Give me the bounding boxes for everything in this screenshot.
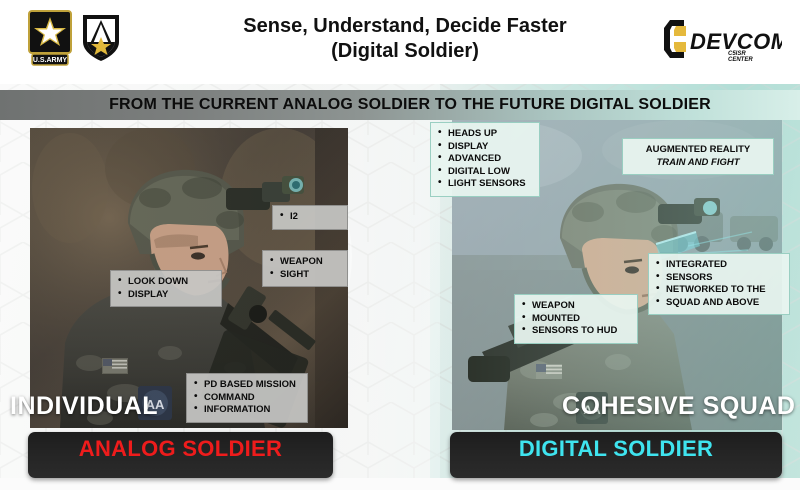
callout-pd-line-1: COMMAND bbox=[193, 392, 299, 405]
callout-i2: I2 bbox=[272, 205, 348, 230]
callout-integrated-line-0: INTEGRATED bbox=[655, 259, 781, 272]
bottom-white-strip bbox=[0, 478, 800, 490]
callout-weaponhud-line-2: SENSORS TO HUD bbox=[521, 325, 629, 338]
callout-pd-line-0: PD BASED MISSION bbox=[193, 379, 299, 392]
page-title-line1: Sense, Understand, Decide Faster bbox=[170, 14, 640, 39]
page-title-line2: (Digital Soldier) bbox=[170, 39, 640, 64]
callout-integrated-sensors: INTEGRATED SENSORS NETWORKED TO THE SQUA… bbox=[648, 253, 790, 315]
callout-weapon-sight: WEAPON SIGHT bbox=[262, 250, 348, 287]
banner-bar: FROM THE CURRENT ANALOG SOLDIER TO THE F… bbox=[0, 90, 800, 120]
callout-weapon-mounted-sensors: WEAPON MOUNTED SENSORS TO HUD bbox=[514, 294, 638, 344]
analog-soldier-bar: ANALOG SOLDIER bbox=[28, 432, 333, 478]
callout-integrated-line-3: SQUAD AND ABOVE bbox=[655, 297, 781, 310]
slide-root: U.S.ARMY Sense, Understand, Decide Faste… bbox=[0, 0, 800, 490]
page-title: Sense, Understand, Decide Faster (Digita… bbox=[170, 14, 640, 64]
devcom-sub-line2: CENTER bbox=[728, 57, 753, 62]
callout-heads-line-2: ADVANCED bbox=[437, 153, 531, 166]
army-wordmark-text: U.S.ARMY bbox=[33, 57, 68, 64]
callout-look-down-display: LOOK DOWN DISPLAY bbox=[110, 270, 222, 307]
us-army-star-logo-icon: U.S.ARMY bbox=[28, 10, 72, 66]
callout-heads-line-0: HEADS UP bbox=[437, 128, 531, 141]
digital-soldier-bar-label: DIGITAL SOLDIER bbox=[450, 436, 782, 462]
digital-soldier-bar: DIGITAL SOLDIER bbox=[450, 432, 782, 478]
callout-heads-line-3: DIGITAL LOW bbox=[437, 166, 531, 179]
callout-augmented-reality: AUGMENTED REALITY TRAIN AND FIGHT bbox=[622, 138, 774, 175]
callout-weaponhud-line-1: MOUNTED bbox=[521, 313, 629, 326]
callout-weaponhud-line-0: WEAPON bbox=[521, 300, 629, 313]
callout-ar-line-1: TRAIN AND FIGHT bbox=[632, 157, 764, 170]
callout-weapon-sight-line-0: WEAPON bbox=[269, 256, 339, 269]
callout-pd-line-2: INFORMATION bbox=[193, 404, 299, 417]
devcom-wordmark-logo-icon: DEVCOM C5ISR CENTER bbox=[662, 16, 782, 62]
callout-pd-based-mission: PD BASED MISSION COMMAND INFORMATION bbox=[186, 373, 308, 423]
banner-text: FROM THE CURRENT ANALOG SOLDIER TO THE F… bbox=[89, 96, 711, 114]
callout-weapon-sight-line-1: SIGHT bbox=[269, 269, 339, 282]
callout-heads-line-4: LIGHT SENSORS bbox=[437, 178, 531, 191]
callout-ar-line-0: AUGMENTED REALITY bbox=[632, 144, 764, 157]
callout-integrated-line-1: SENSORS bbox=[655, 272, 781, 285]
devcom-shield-logo-icon bbox=[80, 12, 122, 64]
analog-soldier-bar-label: ANALOG SOLDIER bbox=[28, 436, 333, 462]
callout-look-down-line-0: LOOK DOWN bbox=[117, 276, 213, 289]
label-individual: INDIVIDUAL bbox=[10, 392, 158, 421]
callout-heads-line-1: DISPLAY bbox=[437, 141, 531, 154]
callout-heads-up-display: HEADS UP DISPLAY ADVANCED DIGITAL LOW LI… bbox=[430, 122, 540, 197]
callout-i2-line-0: I2 bbox=[279, 211, 339, 224]
callout-integrated-line-2: NETWORKED TO THE bbox=[655, 284, 781, 297]
callout-look-down-line-1: DISPLAY bbox=[117, 289, 213, 302]
slide-header: U.S.ARMY Sense, Understand, Decide Faste… bbox=[0, 0, 800, 84]
label-cohesive-squad: COHESIVE SQUAD bbox=[562, 392, 795, 421]
